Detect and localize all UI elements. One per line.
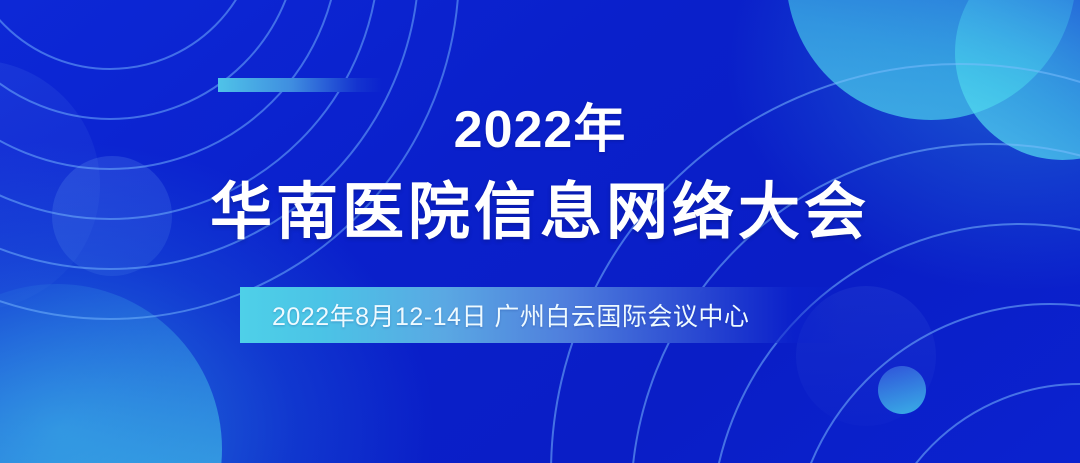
- subtitle-banner-bar: 2022年8月12-14日 广州白云国际会议中心: [240, 287, 840, 343]
- accent-bar-icon: [218, 78, 382, 92]
- banner-main-title: 华南医院信息网络大会: [0, 180, 1080, 247]
- conference-banner: 2022年 华南医院信息网络大会 2022年8月12-14日 广州白云国际会议中…: [0, 0, 1080, 463]
- subtitle-date-venue-text: 2022年8月12-14日 广州白云国际会议中心: [240, 297, 749, 333]
- banner-content: 2022年 华南医院信息网络大会 2022年8月12-14日 广州白云国际会议中…: [0, 0, 1080, 463]
- banner-year-line: 2022年: [0, 104, 1080, 156]
